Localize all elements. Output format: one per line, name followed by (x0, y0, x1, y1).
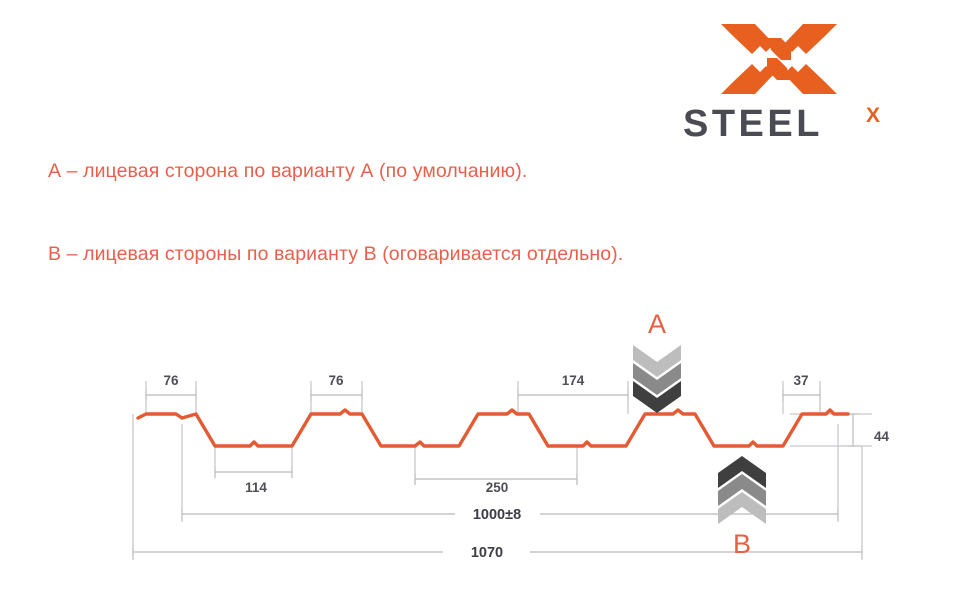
dim-label-total-width: 1070 (471, 545, 503, 561)
profile-technical-drawing: 76 76 174 37 114 250 44 1000±8 1070 A B (0, 0, 970, 597)
dim-label-span-174: 174 (562, 373, 585, 388)
dim-label-pitch: 250 (486, 480, 509, 495)
marker-a: A (633, 309, 681, 413)
marker-a-chevrons-down-icon (633, 345, 681, 413)
dim-label-valley-width: 114 (245, 480, 267, 495)
dim-label-height: 44 (874, 429, 890, 444)
dim-label-crest-width-1: 76 (163, 373, 179, 388)
marker-b-label: B (733, 529, 751, 559)
marker-a-label: A (648, 309, 666, 339)
marker-b: B (718, 456, 766, 559)
dim-label-cover-width: 1000±8 (473, 507, 521, 523)
dim-label-crest-width-2: 76 (328, 373, 344, 388)
dim-label-edge-width: 37 (793, 373, 808, 388)
sheet-profile-line (138, 410, 848, 446)
